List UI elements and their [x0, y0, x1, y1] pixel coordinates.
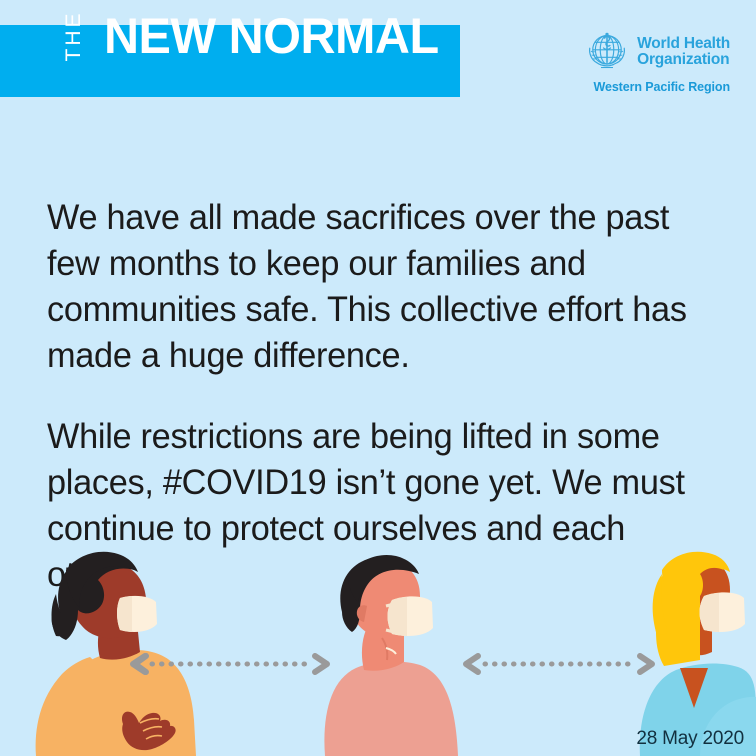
figure-woman-blue — [640, 552, 756, 756]
date-stamp: 28 May 2020 — [636, 728, 744, 750]
who-logo-wordmark: World Health Organization — [637, 36, 730, 68]
poster-canvas: THE NEW NORMAL — [0, 0, 756, 756]
who-emblem-icon — [583, 28, 631, 76]
page-title: NEW NORMAL — [104, 6, 439, 66]
figure-man-salmon — [324, 555, 458, 756]
who-logo: World Health Organization Western Pacifi… — [570, 28, 730, 90]
distance-arrow-right — [466, 656, 652, 672]
page-eyebrow: THE — [48, 10, 100, 62]
figure-woman-orange — [36, 552, 196, 756]
paragraph-1: We have all made sacrifices over the pas… — [47, 195, 694, 379]
who-logo-region: Western Pacific Region — [594, 80, 731, 94]
illustration-physical-distancing — [0, 540, 756, 756]
who-logo-line1: World Health — [637, 35, 730, 52]
who-logo-line2: Organization — [637, 51, 729, 68]
who-logo-primary: World Health Organization — [583, 28, 730, 76]
